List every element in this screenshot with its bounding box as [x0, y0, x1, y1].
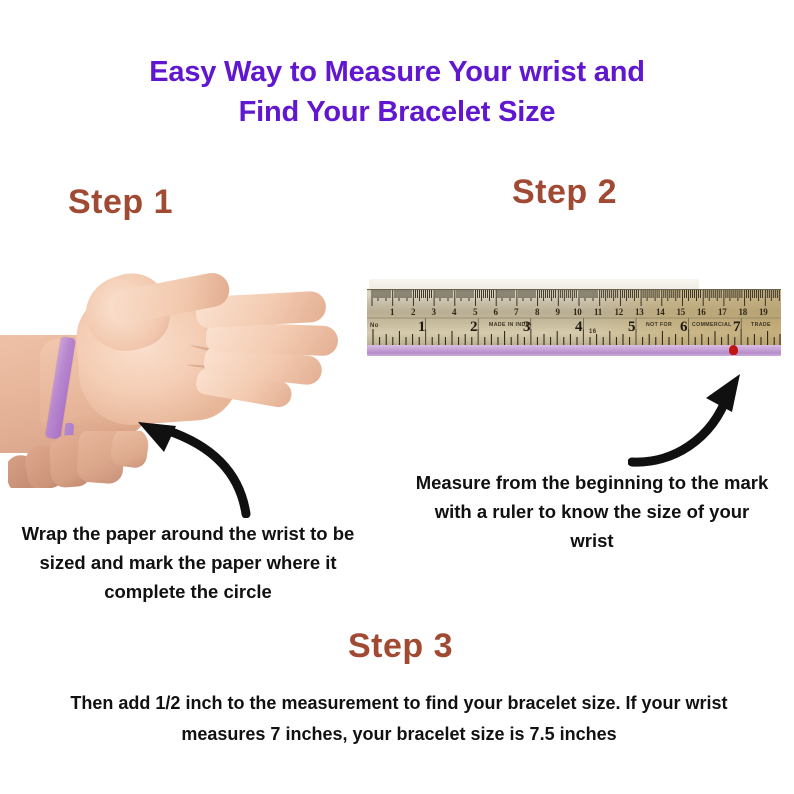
ruler-cm-label-15: 15: [677, 307, 685, 317]
ruler-cm-label-13: 13: [635, 307, 643, 317]
ruler-corner-label: No: [370, 323, 379, 329]
ruler-cm-label-1: 1: [390, 307, 394, 317]
ruler-inch-label-6: 6: [680, 319, 688, 336]
ruler-cm-label-17: 17: [718, 307, 726, 317]
ruler-stamp-commercial: COMMERCIAL: [692, 322, 732, 328]
ruler-cm-label-7: 7: [514, 307, 518, 317]
ruler-cm-label-2: 2: [411, 307, 415, 317]
middle-finger: [206, 322, 339, 357]
ruler-cm-label-16: 16: [697, 307, 705, 317]
ruler-inch-label-4: 4: [575, 319, 583, 336]
ruler-cm-label-6: 6: [494, 307, 498, 317]
ruler-cm-label-18: 18: [739, 307, 747, 317]
ruler-cm-label-14: 14: [656, 307, 664, 317]
ruler-stamp-trade: TRADE: [751, 322, 771, 328]
ruler-sixteenth-label: 16: [589, 329, 596, 335]
ruler-cm-label-4: 4: [452, 307, 456, 317]
ruler-inch-label-1: 1: [418, 319, 426, 336]
ruler-cm-label-5: 5: [473, 307, 477, 317]
page-title-line-2: Find Your Bracelet Size: [0, 92, 794, 132]
curved-arrow-to-wrist: [128, 400, 258, 518]
ruler-cm-label-10: 10: [573, 307, 581, 317]
step-1-heading: Step 1: [68, 183, 173, 222]
page-title: Easy Way to Measure Your wrist and Find …: [0, 52, 794, 132]
ruler-inch-label-7: 7: [733, 319, 741, 336]
curved-arrow-to-mark: [628, 368, 748, 472]
ruler-cm-label-3: 3: [432, 307, 436, 317]
ruler-inch-label-5: 5: [628, 319, 636, 336]
step-1-caption: Wrap the paper around the wrist to be si…: [4, 519, 372, 606]
steel-ruler: 1 2 3 4 5 6 7 8 9 10 11 12 13 14 15 16 1…: [367, 279, 781, 361]
ruler-cm-label-19: 19: [759, 307, 767, 317]
ruler-inch-label-2: 2: [470, 319, 478, 336]
paper-strip-under-ruler: [367, 345, 781, 356]
step-3-caption: Then add 1/2 inch to the measurement to …: [62, 688, 736, 750]
ruler-cm-label-12: 12: [615, 307, 623, 317]
ruler-cm-label-11: 11: [594, 307, 602, 317]
ruler-cm-label-8: 8: [535, 307, 539, 317]
step-3-heading: Step 3: [348, 627, 453, 666]
red-measurement-mark: [729, 345, 738, 355]
ruler-stamp-made-in-india: MADE IN INDIA: [489, 322, 532, 328]
ruler-cm-label-9: 9: [556, 307, 560, 317]
infographic-page: Easy Way to Measure Your wrist and Find …: [0, 0, 794, 794]
ruler-stamp-not-for: NOT FOR: [646, 322, 672, 328]
page-title-line-1: Easy Way to Measure Your wrist and: [149, 56, 645, 88]
step-2-caption: Measure from the beginning to the mark w…: [412, 468, 772, 555]
ruler-graduations: [367, 289, 781, 347]
step-2-heading: Step 2: [512, 173, 617, 212]
